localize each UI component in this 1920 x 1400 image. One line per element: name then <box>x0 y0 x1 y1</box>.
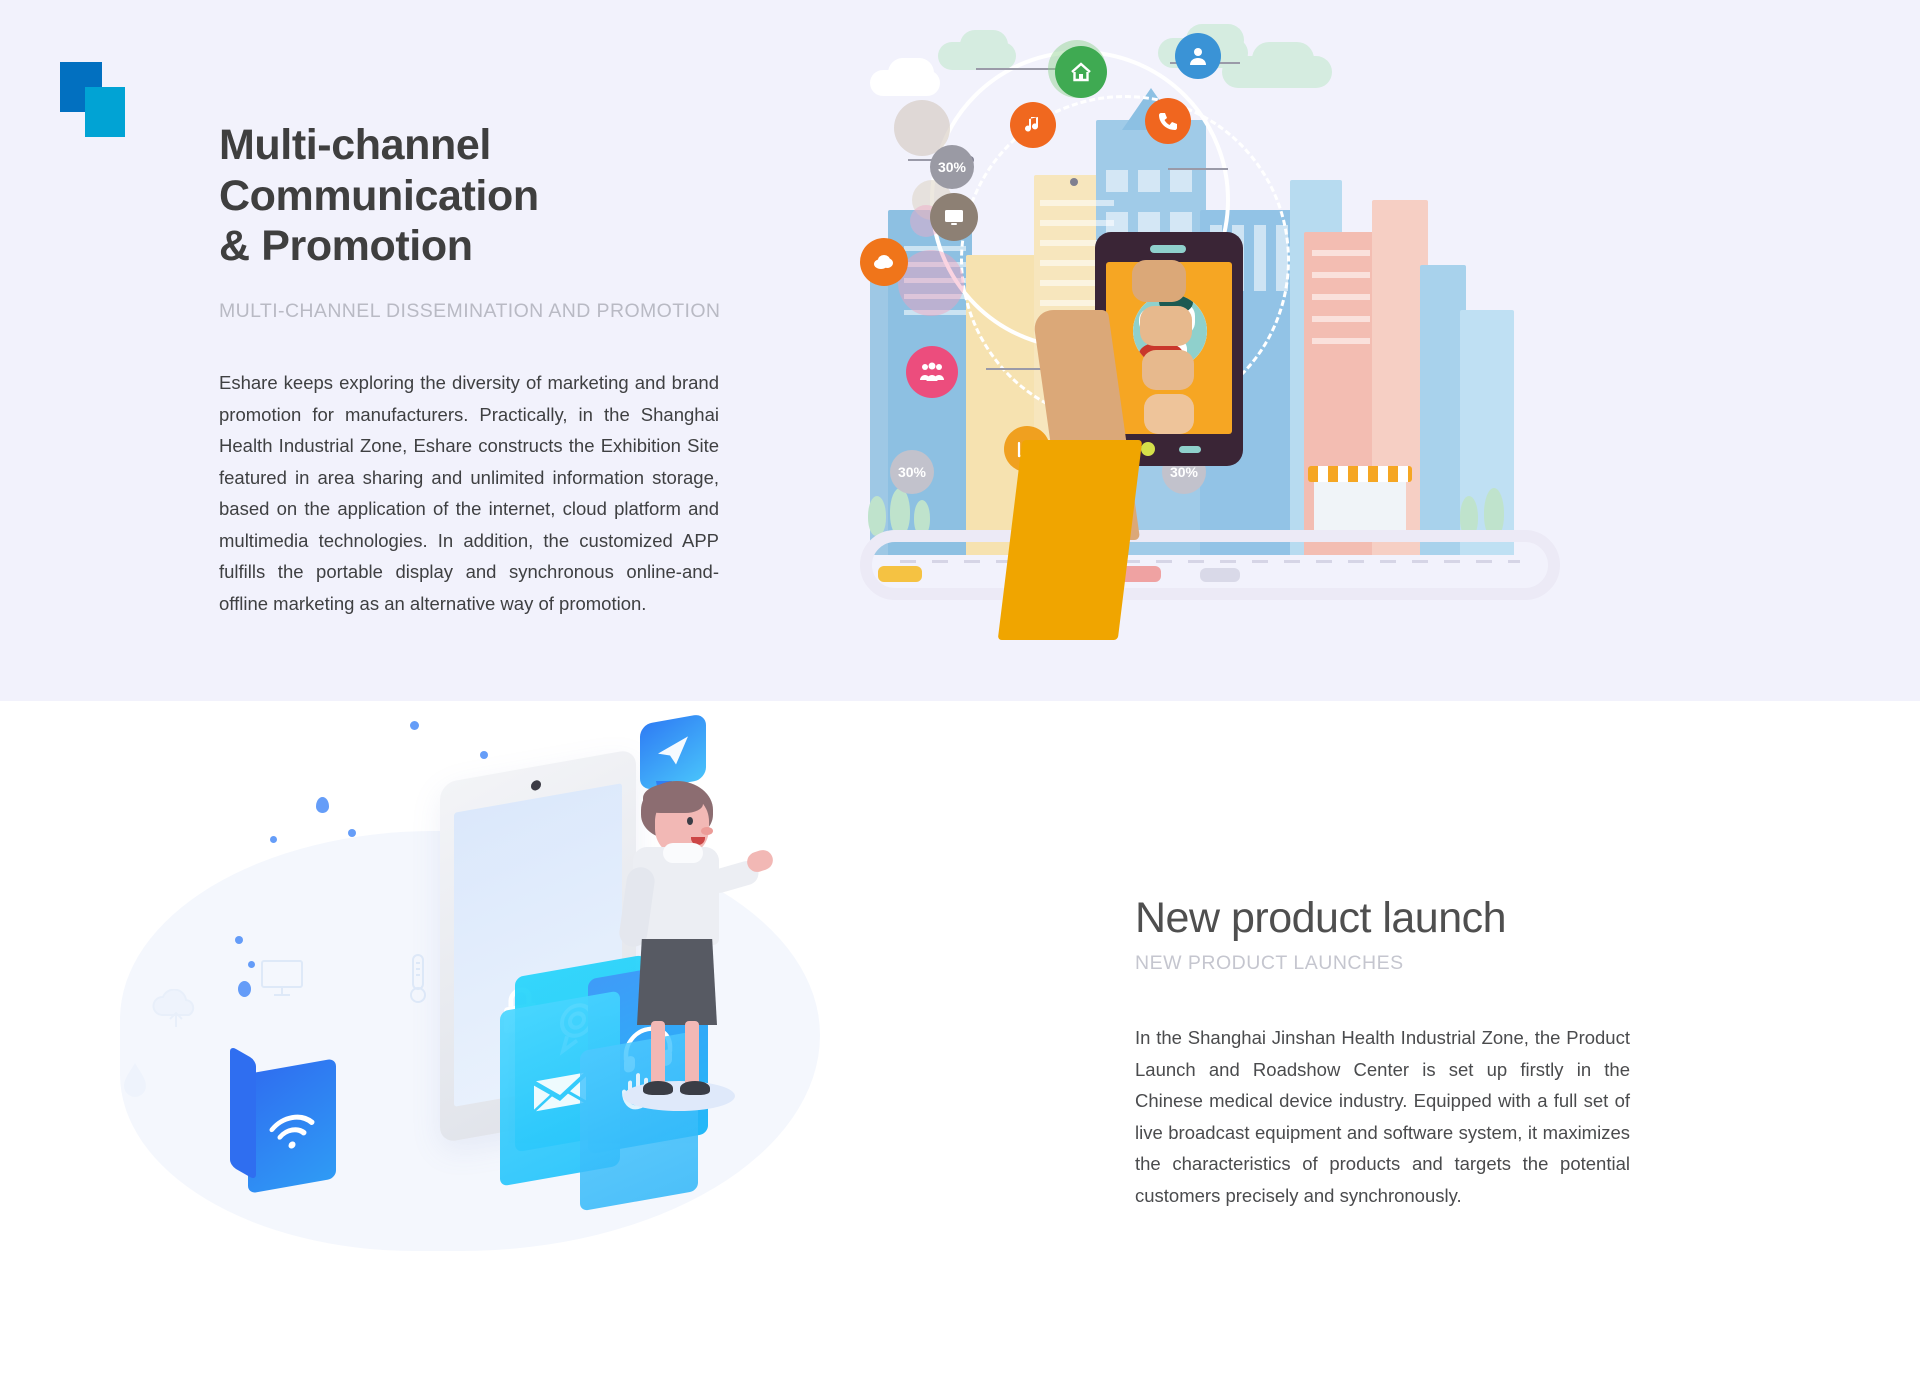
figure-shadow <box>623 1081 735 1111</box>
monitor-icon <box>930 193 978 241</box>
decorative-dot <box>270 836 277 843</box>
percent-badge-4-label: 30% <box>1170 464 1198 480</box>
send-message-icon <box>640 713 706 791</box>
decorative-dot <box>248 961 255 968</box>
road-ellipse <box>860 530 1560 600</box>
cloud-shape <box>1252 42 1314 76</box>
home-icon <box>1055 46 1107 98</box>
phone-speaker <box>1150 245 1186 253</box>
decorative-dot <box>480 751 488 759</box>
page-title: Multi-channel Communication & Promotion <box>219 120 749 272</box>
section-one-subtitle: MULTI-CHANNEL DISSEMINATION AND PROMOTIO… <box>219 300 749 323</box>
cloud-shape <box>960 30 1008 60</box>
decorative-dot <box>316 797 329 813</box>
people-icon <box>906 346 958 398</box>
tablet-live-broadcast-illustration <box>120 711 940 1391</box>
page-root: Multi-channel Communication & Promotion … <box>0 0 1920 1400</box>
decorative-dot <box>238 981 251 997</box>
percent-badge: 30% <box>930 145 974 189</box>
eshare-logo[interactable] <box>60 62 134 136</box>
finger <box>1144 394 1194 434</box>
connector-line <box>1168 168 1228 170</box>
cheek <box>701 827 713 835</box>
shop-awning <box>1308 466 1412 482</box>
finger <box>1142 350 1194 390</box>
percent-badge-label: 30% <box>938 159 966 175</box>
hair-front <box>643 783 703 813</box>
car-shape <box>878 566 922 582</box>
skirt <box>637 939 717 1025</box>
decorative-dot <box>235 936 243 944</box>
page-title-line-2: & Promotion <box>219 222 473 270</box>
tree-shape <box>868 496 886 536</box>
app-card-wifi[interactable] <box>248 1058 336 1194</box>
thermometer-icon <box>408 953 428 1010</box>
monitor-icon <box>260 959 304 1004</box>
section-multi-channel: Multi-channel Communication & Promotion … <box>0 0 1920 701</box>
phone-indicator <box>1179 446 1201 453</box>
city-mobile-marketing-illustration: 30% 30% 30% 30% <box>900 10 1650 650</box>
section-one-body: Eshare keeps exploring the diversity of … <box>219 367 719 619</box>
page-title-line-1: Multi-channel Communication <box>219 121 539 220</box>
cloud-shape <box>888 58 934 88</box>
shoe <box>680 1081 710 1095</box>
app-card-wifi-side <box>230 1045 256 1180</box>
finger <box>1140 306 1192 346</box>
cloud-icon <box>860 238 908 286</box>
section-two-text-block: New product launch NEW PRODUCT LAUNCHES … <box>1135 894 1645 1211</box>
decorative-dot <box>348 829 356 837</box>
phone-icon <box>1145 98 1191 144</box>
road-dashes <box>900 560 1520 563</box>
arm-sleeve <box>998 440 1143 640</box>
section-one-text-block: Multi-channel Communication & Promotion … <box>219 120 749 619</box>
car-shape <box>1200 568 1240 582</box>
section-two-subtitle: NEW PRODUCT LAUNCHES <box>1135 952 1645 975</box>
logo-square-light <box>85 87 125 137</box>
presenter-woman <box>625 781 755 1101</box>
collar <box>663 843 703 863</box>
section-two-title: New product launch <box>1135 894 1645 943</box>
phone-home-button <box>1141 442 1155 456</box>
tablet-camera <box>531 779 541 791</box>
shoe <box>643 1081 673 1095</box>
cloud-upload-icon <box>150 989 202 1038</box>
decorative-dot <box>410 721 419 730</box>
eye <box>687 817 693 825</box>
finger <box>1132 260 1186 302</box>
user-icon <box>1175 33 1221 79</box>
tree-shape <box>890 488 910 536</box>
percent-badge-3-label: 30% <box>898 464 926 480</box>
section-new-product-launch: New product launch NEW PRODUCT LAUNCHES … <box>0 701 1920 1400</box>
music-note-icon <box>1010 102 1056 148</box>
section-two-body: In the Shanghai Jinshan Health Industria… <box>1135 1022 1630 1211</box>
water-drop-icon <box>120 1061 150 1106</box>
connector-dot <box>1070 178 1078 186</box>
percent-badge-3: 30% <box>890 450 934 494</box>
